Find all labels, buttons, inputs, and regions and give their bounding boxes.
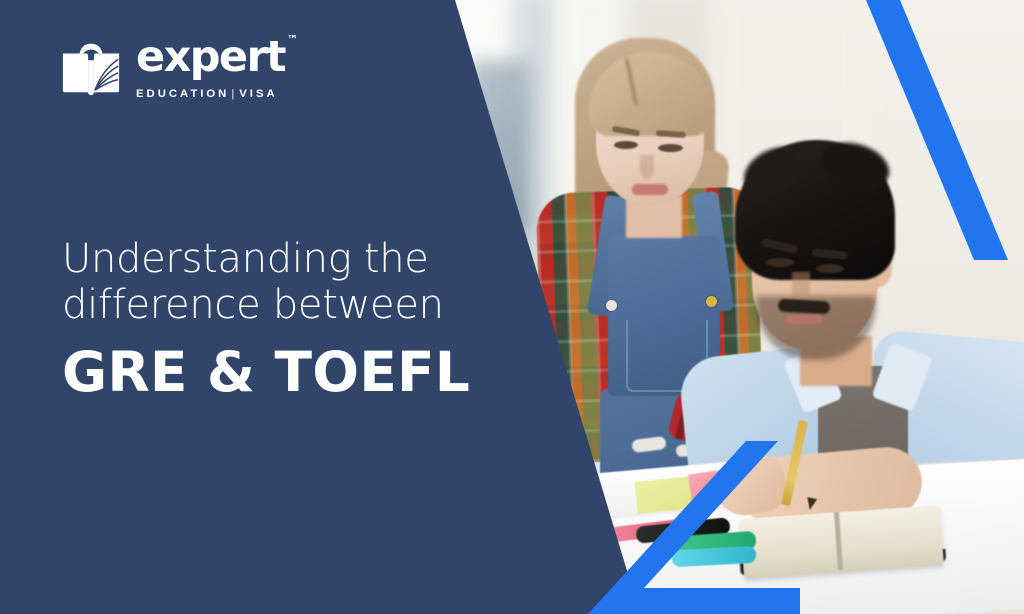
lips xyxy=(786,315,822,324)
headline-block: Understanding the difference between GRE… xyxy=(62,236,532,401)
headline-line-1: Understanding the xyxy=(62,236,532,282)
trademark-symbol: ™ xyxy=(287,34,298,45)
mustache xyxy=(778,299,831,315)
nose xyxy=(792,272,810,302)
eye xyxy=(614,141,638,149)
open-book-icon xyxy=(60,37,122,99)
eye xyxy=(816,264,844,273)
logo-wordmark: expert ™ xyxy=(136,36,285,79)
lips xyxy=(632,184,668,195)
eye xyxy=(766,258,794,267)
headline-emphasis: GRE & TOEFL xyxy=(62,343,532,401)
logo-wordmark-group: expert ™ EDUCATION|VISA xyxy=(136,36,285,100)
logo-tagline-education: EDUCATION xyxy=(136,88,229,100)
banner-canvas: expert ™ EDUCATION|VISA Understanding th… xyxy=(0,0,1024,614)
nose xyxy=(640,155,654,179)
overall-button xyxy=(606,300,617,311)
brand-logo[interactable]: expert ™ EDUCATION|VISA xyxy=(60,36,285,100)
logo-tagline: EDUCATION|VISA xyxy=(136,88,285,100)
eye xyxy=(658,144,683,152)
overall-button xyxy=(706,296,717,307)
logo-tagline-separator: | xyxy=(229,88,239,100)
headline-line-2: difference between xyxy=(62,282,532,328)
logo-tagline-visa: VISA xyxy=(239,88,277,100)
